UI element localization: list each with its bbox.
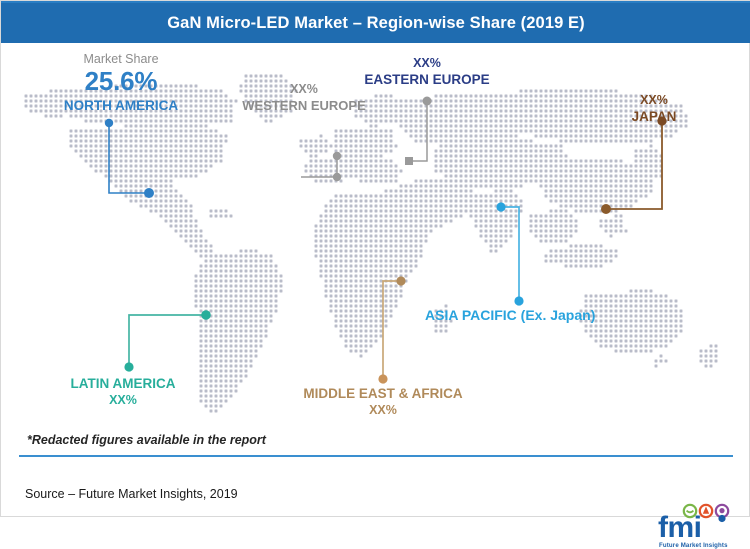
marker-japan-anchor <box>601 204 611 214</box>
header-bar: GaN Micro-LED Market – Region-wise Share… <box>1 1 750 43</box>
marker-north-america <box>105 119 113 127</box>
redacted-note: *Redacted figures available in the repor… <box>27 433 266 447</box>
infographic-frame: GaN Micro-LED Market – Region-wise Share… <box>0 0 750 517</box>
middle-east-africa-name: MIDDLE EAST & AFRICA <box>293 386 473 402</box>
middle-east-africa-value: XX% <box>293 403 473 418</box>
eastern-europe-value: XX% <box>363 56 491 71</box>
logo-tagline: Future Market Insights <box>659 542 728 549</box>
marker-western-europe-anchor <box>333 173 341 181</box>
footer-divider <box>19 455 733 457</box>
japan-value: XX% <box>609 93 699 108</box>
north-america-value: 25.6% <box>41 68 201 95</box>
marker-middle-east-africa <box>396 276 405 285</box>
marker-asia-pacific-anchor <box>514 296 523 305</box>
marker-north-america-anchor <box>144 188 154 198</box>
label-north-america: Market Share 25.6% NORTH AMERICA <box>41 52 201 114</box>
label-latin-america: LATIN AMERICA XX% <box>45 376 201 409</box>
label-eastern-europe: XX% EASTERN EUROPE <box>363 56 491 89</box>
marker-eastern-europe <box>423 97 432 106</box>
western-europe-value: XX% <box>239 82 369 97</box>
western-europe-name: WESTERN EUROPE <box>239 98 369 114</box>
japan-name: JAPAN <box>609 109 699 125</box>
logo-wordmark: fmi <box>658 511 702 544</box>
marker-eastern-europe-anchor <box>405 157 413 165</box>
connector-north-america <box>109 123 149 193</box>
label-western-europe: XX% WESTERN EUROPE <box>239 82 369 114</box>
connector-latin-america <box>129 315 206 367</box>
latin-america-name: LATIN AMERICA <box>45 376 201 392</box>
marker-latin-america-anchor <box>124 362 133 371</box>
connector-japan <box>606 121 662 209</box>
marker-asia-pacific <box>496 202 505 211</box>
marker-middle-east-africa-anchor <box>378 374 387 383</box>
fmi-logo: fmi Future Market Insights <box>656 501 744 549</box>
north-america-market-share-caption: Market Share <box>41 52 201 67</box>
asia-pacific-name: ASIA PACIFIC (Ex. Japan) <box>425 307 595 323</box>
label-japan: XX% JAPAN <box>609 93 699 126</box>
map-stage: Market Share 25.6% NORTH AMERICA XX% WES… <box>1 43 750 518</box>
marker-western-europe <box>333 152 341 160</box>
marker-latin-america <box>201 310 211 320</box>
latin-america-value: XX% <box>45 393 201 408</box>
label-asia-pacific: ASIA PACIFIC (Ex. Japan) <box>425 307 595 324</box>
source-text: Source – Future Market Insights, 2019 <box>25 487 238 501</box>
north-america-name: NORTH AMERICA <box>41 98 201 114</box>
label-middle-east-africa: MIDDLE EAST & AFRICA XX% <box>293 386 473 419</box>
page-title: GaN Micro-LED Market – Region-wise Share… <box>167 14 585 33</box>
eastern-europe-name: EASTERN EUROPE <box>363 72 491 88</box>
